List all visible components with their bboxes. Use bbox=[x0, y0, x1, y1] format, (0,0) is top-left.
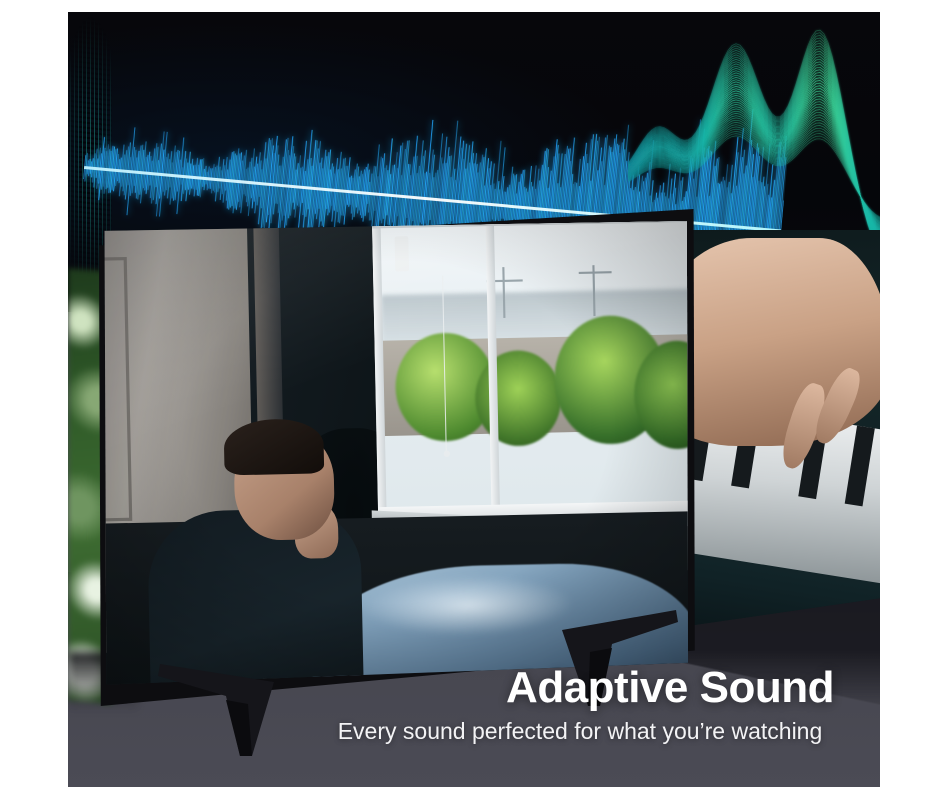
product-banner: Adaptive Sound Every sound perfected for… bbox=[68, 12, 880, 787]
page-root: Adaptive Sound Every sound perfected for… bbox=[0, 0, 943, 807]
tv-leg-left bbox=[156, 660, 336, 770]
piano-black-key bbox=[844, 426, 874, 507]
tv-leg-right bbox=[526, 606, 706, 716]
television bbox=[96, 208, 696, 708]
